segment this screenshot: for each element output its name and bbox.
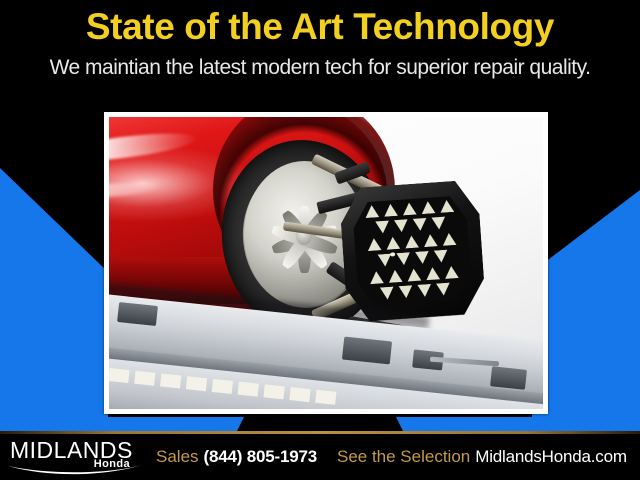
alignment-target-face	[352, 195, 473, 307]
target-marker-triangle	[402, 202, 418, 216]
rack-dash	[109, 368, 130, 383]
hero-photo	[109, 117, 543, 409]
rack-dash	[315, 390, 336, 405]
cta-label: See the Selection	[337, 447, 470, 467]
target-marker-triangle	[388, 269, 404, 283]
rack-dash	[289, 387, 310, 402]
hero-photo-frame	[104, 112, 548, 414]
rack-dash	[160, 374, 181, 389]
target-marker-triangle	[396, 252, 412, 266]
target-marker-triangle	[421, 200, 437, 214]
blue-wedge-right	[532, 160, 640, 418]
rack-dash	[212, 379, 233, 394]
target-marker-triangle	[415, 251, 431, 265]
website-link[interactable]: MidlandsHonda.com	[475, 447, 627, 467]
logo-swoosh-icon	[6, 464, 146, 478]
sales-label: Sales	[156, 447, 199, 467]
target-marker-triangle	[436, 282, 452, 296]
dealer-logo[interactable]: MIDLANDS Honda	[0, 434, 150, 480]
target-marker-triangle	[423, 233, 439, 247]
rack-dash	[263, 384, 284, 399]
blue-band-notch	[237, 417, 403, 431]
target-marker-triangle	[417, 284, 433, 298]
target-marker-triangle	[369, 270, 385, 284]
alignment-target-board	[339, 179, 487, 323]
target-marker-triangle	[425, 266, 441, 280]
target-marker-triangle	[398, 285, 414, 299]
page-title: State of the Art Technology	[0, 4, 640, 50]
target-marker-triangle	[394, 219, 410, 233]
target-marker-triangle	[434, 249, 450, 263]
target-marker-triangle	[375, 220, 391, 234]
car-highlight-upper	[109, 128, 198, 167]
target-marker-triangle	[404, 235, 420, 249]
sales-phone-number[interactable]: (844) 805-1973	[204, 447, 317, 467]
page-subtitle: We maintian the latest modern tech for s…	[0, 54, 640, 82]
target-marker-triangle	[364, 204, 380, 218]
car-highlight-lower	[109, 180, 160, 200]
target-marker-triangle	[412, 218, 428, 232]
target-marker-triangle	[442, 232, 458, 246]
rack-fitting	[117, 302, 158, 326]
target-marker-triangle	[380, 286, 396, 300]
target-marker-triangle	[386, 236, 402, 250]
target-marker-triangle	[367, 237, 383, 251]
target-marker-triangle	[383, 203, 399, 217]
rack-fitting	[490, 366, 527, 390]
target-marker-triangle	[431, 216, 447, 230]
blue-wedge-left	[0, 160, 108, 418]
rack-dash	[238, 382, 259, 397]
target-marker-triangle	[439, 199, 455, 213]
target-marker-triangle	[407, 268, 423, 282]
footer-contact-group: Sales (844) 805-1973 See the Selection M…	[150, 447, 640, 467]
footer-bar: MIDLANDS Honda Sales (844) 805-1973 See …	[0, 434, 640, 480]
rack-dash	[134, 371, 155, 386]
advertisement-banner: State of the Art Technology We maintian …	[0, 0, 640, 480]
target-marker-triangle	[444, 265, 460, 279]
rack-dash	[186, 376, 207, 391]
